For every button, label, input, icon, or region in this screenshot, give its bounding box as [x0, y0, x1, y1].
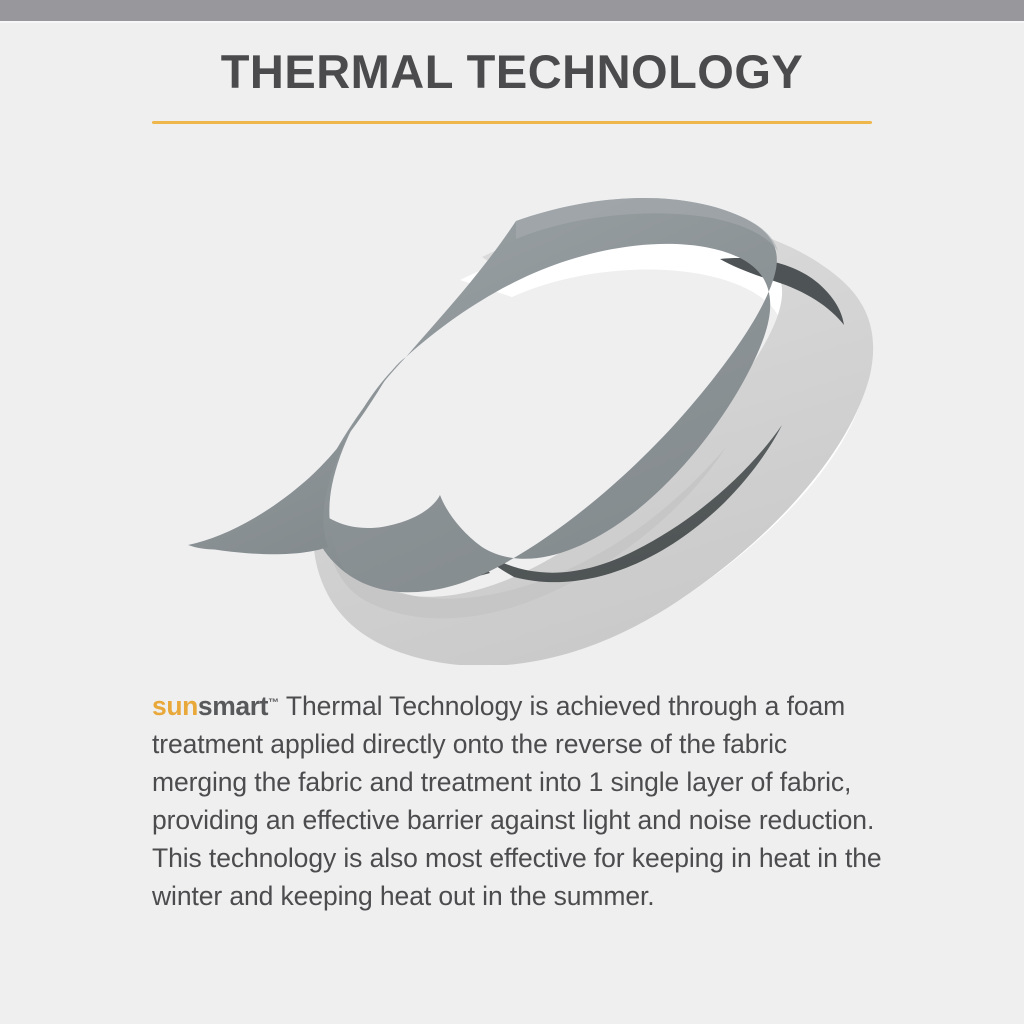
brand-wordmark: sunsmart™: [152, 691, 279, 721]
top-gray-band: [0, 0, 1024, 21]
page-title: THERMAL TECHNOLOGY: [0, 45, 1024, 99]
title-underline-rule: [152, 121, 872, 124]
top-band-hairline: [0, 21, 1024, 23]
thermal-fabric-illustration: [130, 185, 894, 665]
description-text: Thermal Technology is achieved through a…: [152, 691, 882, 911]
brand-smart-text: smart: [198, 691, 268, 721]
description-paragraph: sunsmart™ Thermal Technology is achieved…: [152, 684, 882, 915]
brand-sun-text: sun: [152, 691, 198, 721]
page-root: THERMAL TECHNOLOGY: [0, 0, 1024, 1024]
trademark-symbol: ™: [268, 697, 279, 709]
